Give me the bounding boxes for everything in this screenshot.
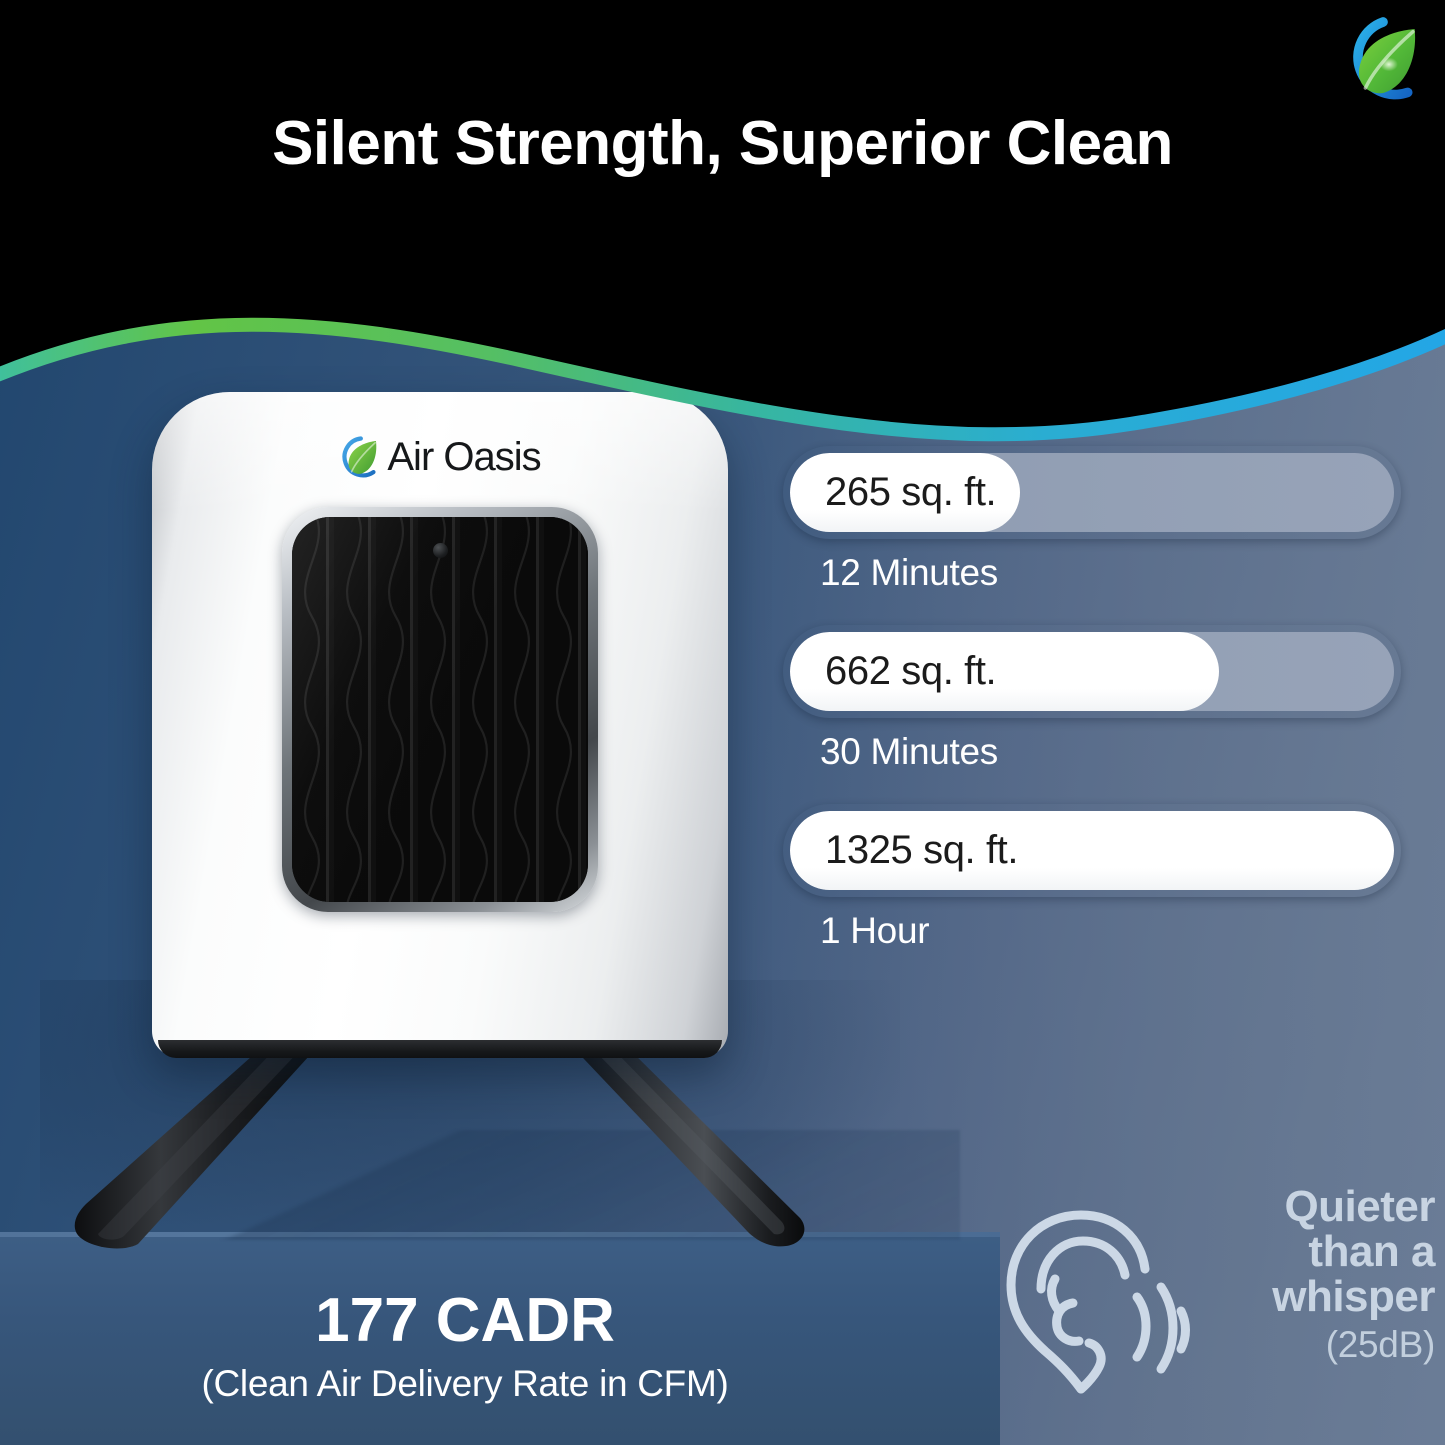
coverage-bar-track-1: 662 sq. ft. [783,625,1401,718]
coverage-bar-caption-1: 30 Minutes [783,731,1403,773]
coverage-bar-value-1: 662 sq. ft. [825,625,996,718]
coverage-bar-track-0: 265 sq. ft. [783,446,1401,539]
coverage-bar-caption-0: 12 Minutes [783,552,1403,594]
coverage-bar-group-1: 662 sq. ft. 30 Minutes [783,625,1403,773]
air-purifier: Air Oasis [152,392,728,1057]
quiet-line-1: Quieter [1203,1185,1435,1230]
purifier-base-rim [158,1040,722,1058]
leaf-circle-logo-icon [1339,15,1427,103]
coverage-bar-value-2: 1325 sq. ft. [825,804,1018,897]
coverage-bars: 265 sq. ft. 12 Minutes 662 sq. ft. 30 Mi… [783,446,1403,983]
grille-panel [292,517,588,902]
page-title: Silent Strength, Superior Clean [0,108,1445,179]
infographic-canvas: Silent Strength, Superior Clean [0,0,1445,1445]
grille-bezel [282,507,598,912]
purifier-leg-right [548,1040,814,1252]
quiet-block: Quieter than a whisper (25dB) [985,1185,1435,1420]
coverage-bar-value-0: 265 sq. ft. [825,446,996,539]
quiet-line-2: than a [1203,1230,1435,1275]
cadr-subtext: (Clean Air Delivery Rate in CFM) [0,1363,930,1405]
purifier-leg-left [72,1040,322,1252]
ear-sound-waves-icon [985,1193,1200,1408]
purifier-brand-name: Air Oasis [387,435,540,480]
coverage-bar-group-0: 265 sq. ft. 12 Minutes [783,446,1403,594]
purifier-brand-logo: Air Oasis [152,432,728,482]
quiet-decibels: (25dB) [1203,1324,1435,1366]
cadr-headline: 177 CADR [0,1288,930,1353]
grille-gloss [292,517,588,902]
sensor-dot-icon [433,543,448,558]
coverage-bar-caption-2: 1 Hour [783,910,1403,952]
quiet-line-3: whisper [1203,1275,1435,1320]
coverage-bar-group-2: 1325 sq. ft. 1 Hour [783,804,1403,952]
coverage-bar-track-2: 1325 sq. ft. [783,804,1401,897]
cadr-block: 177 CADR (Clean Air Delivery Rate in CFM… [0,1288,930,1405]
quiet-text-block: Quieter than a whisper (25dB) [1203,1185,1435,1366]
leaf-logo-icon [339,436,381,478]
